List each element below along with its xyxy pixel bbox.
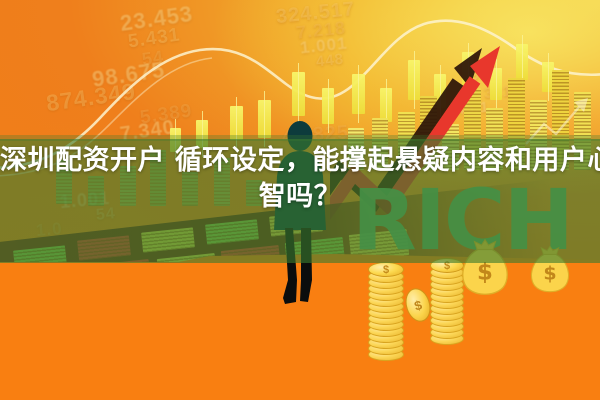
coin-top-face: $ (368, 262, 404, 277)
svg-text:$: $ (477, 259, 493, 285)
headline-text: 深圳配资开户 循环设定，能撑起悬疑内容和用户心 智吗？ (0, 143, 600, 215)
coin-stack: $ (368, 262, 404, 360)
svg-text:$: $ (543, 262, 556, 284)
banner-image: 23.4535.4315498.675874.3495.3897.340324.… (0, 0, 600, 400)
headline-line-1: 深圳配资开户 循环设定，能撑起悬疑内容和用户心 (0, 143, 600, 179)
headline-line-2: 智吗？ (0, 179, 600, 215)
